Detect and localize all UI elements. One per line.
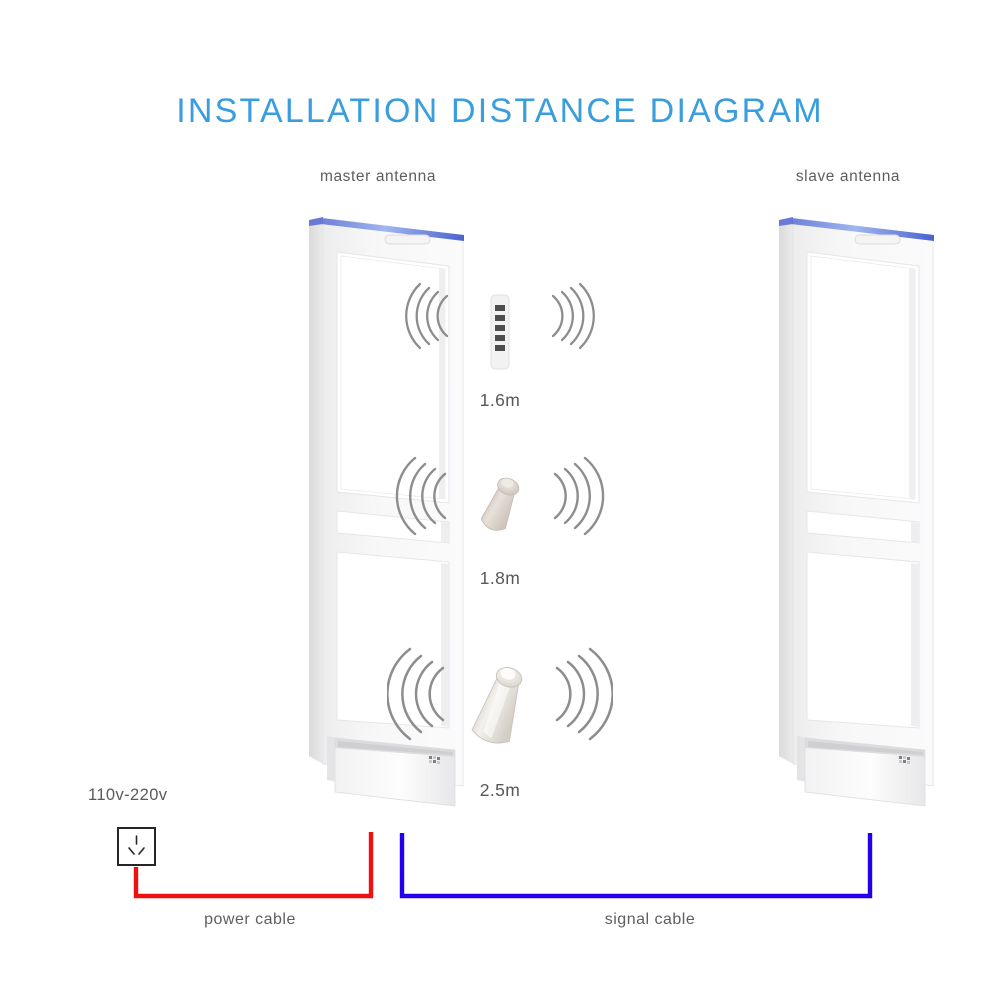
signal-cable-label: signal cable xyxy=(540,911,760,929)
signal-wave-right-icon xyxy=(549,636,613,753)
page-title: INSTALLATION DISTANCE DIAGRAM xyxy=(0,92,1000,131)
slave-antenna-label: slave antenna xyxy=(718,168,978,186)
detection-item-pencil-tag: 1.8m xyxy=(385,448,615,589)
voltage-label: 110v-220v xyxy=(88,786,167,805)
signal-wave-right-icon xyxy=(547,448,605,545)
master-antenna-label: master antenna xyxy=(248,168,508,186)
detection-item-soft-label: 1.6m xyxy=(385,276,615,411)
signal-wave-right-icon xyxy=(545,276,597,361)
detection-item-large-tag: 2.5m xyxy=(385,636,615,801)
detection-distance-label: 2.5m xyxy=(385,780,615,801)
power-cable-label: power cable xyxy=(140,911,360,929)
signal-cable-path xyxy=(402,833,870,896)
installation-distance-diagram: INSTALLATION DISTANCE DIAGRAM master ant… xyxy=(0,0,1000,1000)
detection-distance-label: 1.8m xyxy=(385,568,615,589)
slave-antenna-pedestal xyxy=(775,208,945,808)
power-cable-path xyxy=(136,832,371,896)
detection-distance-label: 1.6m xyxy=(385,390,615,411)
cable-routing-diagram xyxy=(0,820,1000,915)
